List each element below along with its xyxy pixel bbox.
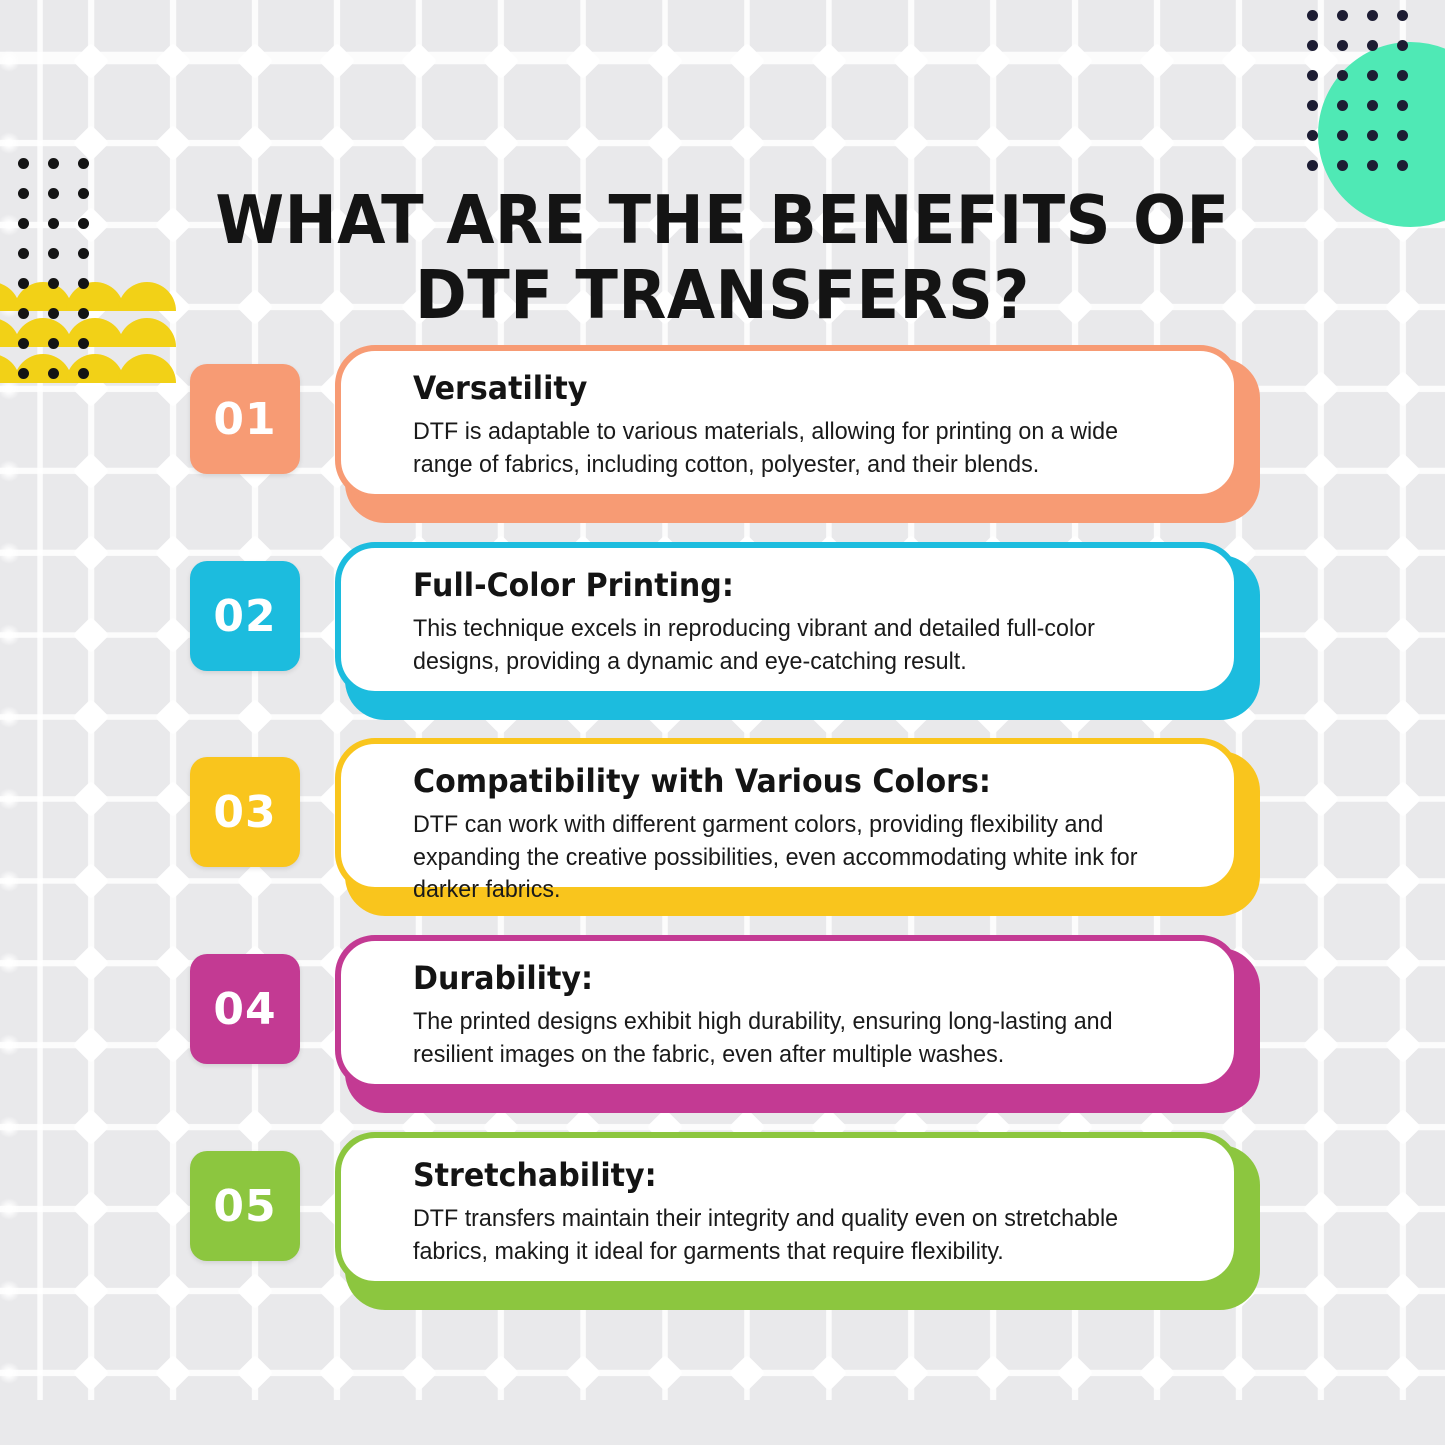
benefit-title: Durability:	[413, 961, 1153, 996]
step-number-badge[interactable]: 04	[190, 954, 300, 1064]
decorative-dot	[1397, 130, 1408, 141]
step-number-badge[interactable]: 02	[190, 561, 300, 671]
decorative-dot	[1337, 10, 1348, 21]
decorative-dot	[1367, 70, 1378, 81]
decorative-dot	[1307, 70, 1318, 81]
decorative-dot	[1367, 130, 1378, 141]
benefit-title: Versatility	[413, 371, 1153, 406]
decorative-dot	[1397, 160, 1408, 171]
decorative-dot	[1397, 100, 1408, 111]
step-number-badge[interactable]: 03	[190, 757, 300, 867]
benefit-card[interactable]: Stretchability:DTF transfers maintain th…	[335, 1132, 1240, 1287]
decorative-dot	[78, 158, 89, 169]
decorative-dot	[1337, 70, 1348, 81]
benefit-description: The printed designs exhibit high durabil…	[413, 1006, 1161, 1071]
decorative-dot	[1367, 100, 1378, 111]
decorative-dot	[78, 188, 89, 199]
benefit-card-row: 05Stretchability:DTF transfers maintain …	[0, 1127, 1445, 1307]
benefit-card[interactable]: VersatilityDTF is adaptable to various m…	[335, 345, 1240, 500]
step-number-badge[interactable]: 05	[190, 1151, 300, 1261]
decorative-dot	[48, 188, 59, 199]
benefit-title: Full-Color Printing:	[413, 568, 1153, 603]
benefit-description: DTF transfers maintain their integrity a…	[413, 1203, 1161, 1268]
decorative-dot	[1307, 160, 1318, 171]
step-number-badge[interactable]: 01	[190, 364, 300, 474]
decorative-dot	[48, 158, 59, 169]
decorative-dot	[1337, 100, 1348, 111]
decorative-dot	[48, 248, 59, 259]
decorative-dot	[1397, 10, 1408, 21]
decorative-dot	[78, 218, 89, 229]
benefit-title: Compatibility with Various Colors:	[413, 764, 1153, 799]
dot-pattern-top-right	[1307, 10, 1437, 195]
benefit-description: DTF can work with different garment colo…	[413, 809, 1161, 907]
page-title: WHAT ARE THE BENEFITS OF DTF TRANSFERS?	[213, 183, 1231, 333]
decorative-dot	[48, 308, 59, 319]
decorative-dot	[1397, 40, 1408, 51]
decorative-dot	[18, 248, 29, 259]
benefit-title: Stretchability:	[413, 1158, 1153, 1193]
decorative-dot	[78, 278, 89, 289]
benefit-card[interactable]: Compatibility with Various Colors:DTF ca…	[335, 738, 1240, 893]
decorative-dot	[1367, 160, 1378, 171]
decorative-dot	[1307, 100, 1318, 111]
benefit-description: This technique excels in reproducing vib…	[413, 613, 1161, 678]
decorative-dot	[1367, 40, 1378, 51]
decorative-dot	[1307, 40, 1318, 51]
infographic-canvas: WHAT ARE THE BENEFITS OF DTF TRANSFERS? …	[0, 0, 1445, 1445]
benefit-card-row: 04Durability:The printed designs exhibit…	[0, 930, 1445, 1110]
decorative-dot	[48, 278, 59, 289]
benefit-card[interactable]: Durability:The printed designs exhibit h…	[335, 935, 1240, 1090]
decorative-dot	[1337, 160, 1348, 171]
decorative-dot	[1307, 10, 1318, 21]
decorative-dot	[1397, 70, 1408, 81]
benefit-card-row: 02Full-Color Printing:This technique exc…	[0, 537, 1445, 717]
benefit-card-row: 01VersatilityDTF is adaptable to various…	[0, 340, 1445, 520]
decorative-dot	[78, 308, 89, 319]
decorative-dot	[48, 218, 59, 229]
benefit-card-row: 03Compatibility with Various Colors:DTF …	[0, 733, 1445, 913]
decorative-dot	[18, 218, 29, 229]
decorative-dot	[1367, 10, 1378, 21]
decorative-dot	[18, 278, 29, 289]
decorative-dot	[1307, 130, 1318, 141]
benefit-card[interactable]: Full-Color Printing:This technique excel…	[335, 542, 1240, 697]
decorative-dot	[18, 158, 29, 169]
decorative-dot	[1337, 40, 1348, 51]
benefit-description: DTF is adaptable to various materials, a…	[413, 416, 1161, 481]
decorative-dot	[78, 248, 89, 259]
decorative-dot	[18, 188, 29, 199]
decorative-dot	[18, 308, 29, 319]
decorative-dot	[1337, 130, 1348, 141]
